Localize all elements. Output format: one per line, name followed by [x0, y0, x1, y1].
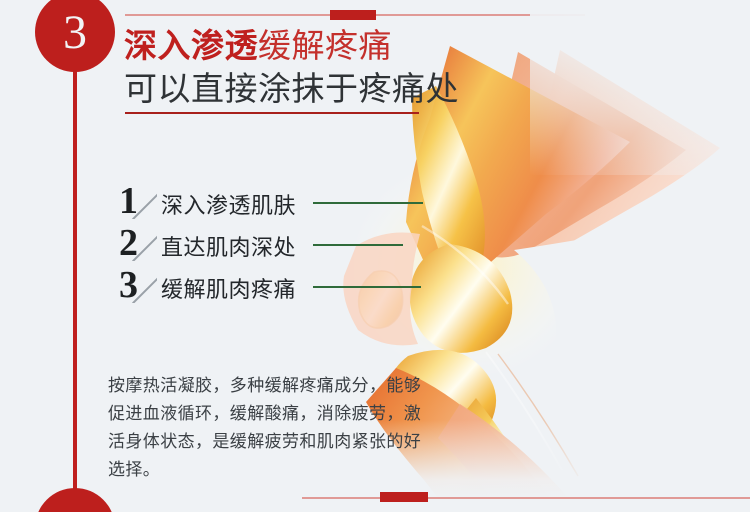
step-badge-current-number: 3 [63, 5, 87, 60]
page-title-strong: 深入渗透 [124, 26, 258, 65]
subtitle-underline [125, 112, 419, 114]
infographic-panel: 3 4 [0, 0, 750, 512]
footer-divider-accent [380, 492, 428, 502]
feature-connector-line [313, 202, 423, 204]
slash-decoration-icon [131, 193, 157, 219]
step-badge-next-number: 4 [63, 502, 87, 512]
slash-decoration-icon [131, 277, 157, 303]
feature-number-wrap: 2 [117, 225, 161, 267]
footer-divider [302, 497, 750, 499]
feature-number-wrap: 3 [117, 267, 161, 309]
page-title-light: 缓解疼痛 [258, 27, 392, 64]
page-subtitle: 可以直接涂抹于疼痛处 [124, 71, 459, 108]
step-badge-current: 3 [35, 0, 115, 72]
slash-decoration-icon [131, 235, 157, 261]
feature-number-wrap: 1 [117, 183, 161, 225]
feature-connector-line [313, 286, 421, 288]
description-paragraph: 按摩热活凝胶，多种缓解疼痛成分，能够促进血液循环，缓解酸痛，消除疲劳，激活身体状… [108, 372, 426, 484]
list-item: 1 深入渗透肌肤 [117, 183, 447, 225]
feature-label: 缓解肌肉疼痛 [161, 272, 296, 304]
step-badge-next: 4 [35, 488, 115, 512]
page-title: 深入渗透缓解疼痛 [124, 28, 392, 65]
list-item: 2 直达肌肉深处 [117, 225, 447, 267]
feature-label: 直达肌肉深处 [161, 230, 296, 262]
feature-connector-line [313, 244, 403, 246]
timeline-connector-line [73, 20, 77, 500]
feature-list: 1 深入渗透肌肤 2 直达肌肉深处 3 缓解肌肉疼痛 [117, 183, 447, 309]
feature-label: 深入渗透肌肤 [161, 188, 296, 220]
list-item: 3 缓解肌肉疼痛 [117, 267, 447, 309]
